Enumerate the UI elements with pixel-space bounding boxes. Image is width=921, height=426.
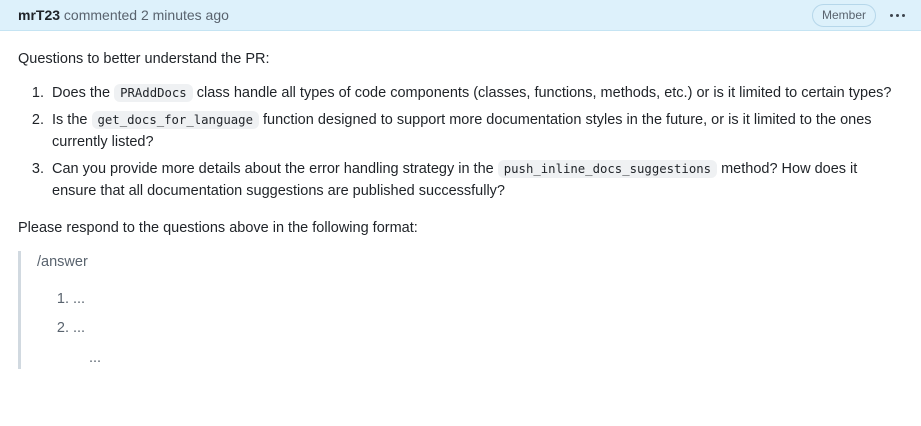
list-item: ... [73, 317, 903, 339]
comment-author[interactable]: mrT23 [18, 7, 60, 23]
format-paragraph: Please respond to the questions above in… [18, 217, 903, 239]
inline-code-get-docs-for-language: get_docs_for_language [92, 111, 259, 129]
questions-list: Does the PRAddDocs class handle all type… [18, 82, 903, 202]
comment-header: mrT23 commented 2 minutes ago Member [0, 0, 921, 31]
list-item: Can you provide more details about the e… [48, 158, 903, 203]
question-1-text-before: Does the [52, 85, 110, 101]
question-3-text-before: Can you provide more details about the e… [52, 161, 494, 177]
status-badge: Member [812, 4, 876, 27]
question-2-text-before: Is the [52, 112, 87, 128]
kebab-dot-3 [902, 14, 905, 17]
kebab-dot-1 [890, 14, 893, 17]
comment-timestamp: commented 2 minutes ago [64, 7, 229, 23]
inline-code-pradddocs: PRAddDocs [114, 84, 193, 102]
kebab-dot-2 [896, 14, 899, 17]
list-item: ... [73, 288, 903, 310]
list-item: Is the get_docs_for_language function de… [48, 109, 903, 154]
answer-trailing-ellipsis: ... [37, 347, 903, 369]
answer-format-blockquote: /answer ... ... ... [18, 251, 903, 369]
comment-meta: mrT23 commented 2 minutes ago [18, 8, 229, 22]
question-1-text-after: class handle all types of code component… [197, 85, 892, 101]
comment-body: Questions to better understand the PR: D… [0, 31, 921, 369]
header-actions: Member [812, 4, 907, 27]
intro-paragraph: Questions to better understand the PR: [18, 48, 903, 70]
kebab-horizontal-icon[interactable] [888, 10, 907, 21]
list-item: Does the PRAddDocs class handle all type… [48, 82, 903, 104]
answer-command: /answer [37, 251, 903, 273]
answer-placeholder-list: ... ... [37, 288, 903, 340]
inline-code-push-inline-docs-suggestions: push_inline_docs_suggestions [498, 160, 717, 178]
